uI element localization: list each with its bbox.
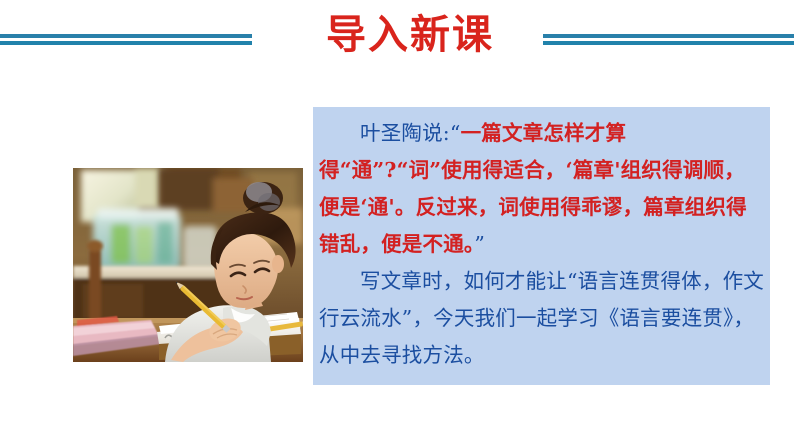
rule-line-thin xyxy=(0,41,252,45)
quote-p1-segment-blue-open: 叶圣陶说:“ xyxy=(360,121,461,145)
page-title: 导入新课 xyxy=(300,8,520,62)
decorative-rule-left xyxy=(0,34,252,50)
quote-paragraph-1: 叶圣陶说:“一篇文章怎样才算得“通”?“词”使用得适合，‘篇章'组织得调顺，便是… xyxy=(319,115,764,263)
slide-header: 导入新课 xyxy=(0,0,794,90)
quote-text-panel: 叶圣陶说:“一篇文章怎样才算得“通”?“词”使用得适合，‘篇章'组织得调顺，便是… xyxy=(313,107,770,385)
quote-paragraph-2: 写文章时，如何才能让“语言连贯得体，作文行云流水”，今天我们一起学习《语言要连贯… xyxy=(319,263,764,374)
photo-girl-writing xyxy=(73,168,303,362)
decorative-rule-right xyxy=(543,34,794,50)
photo-illustration xyxy=(73,168,303,362)
quote-p1-segment-blue-close: ” xyxy=(474,232,485,256)
rule-line-thin xyxy=(543,41,794,45)
quote-body: 叶圣陶说:“一篇文章怎样才算得“通”?“词”使用得适合，‘篇章'组织得调顺，便是… xyxy=(319,115,764,374)
